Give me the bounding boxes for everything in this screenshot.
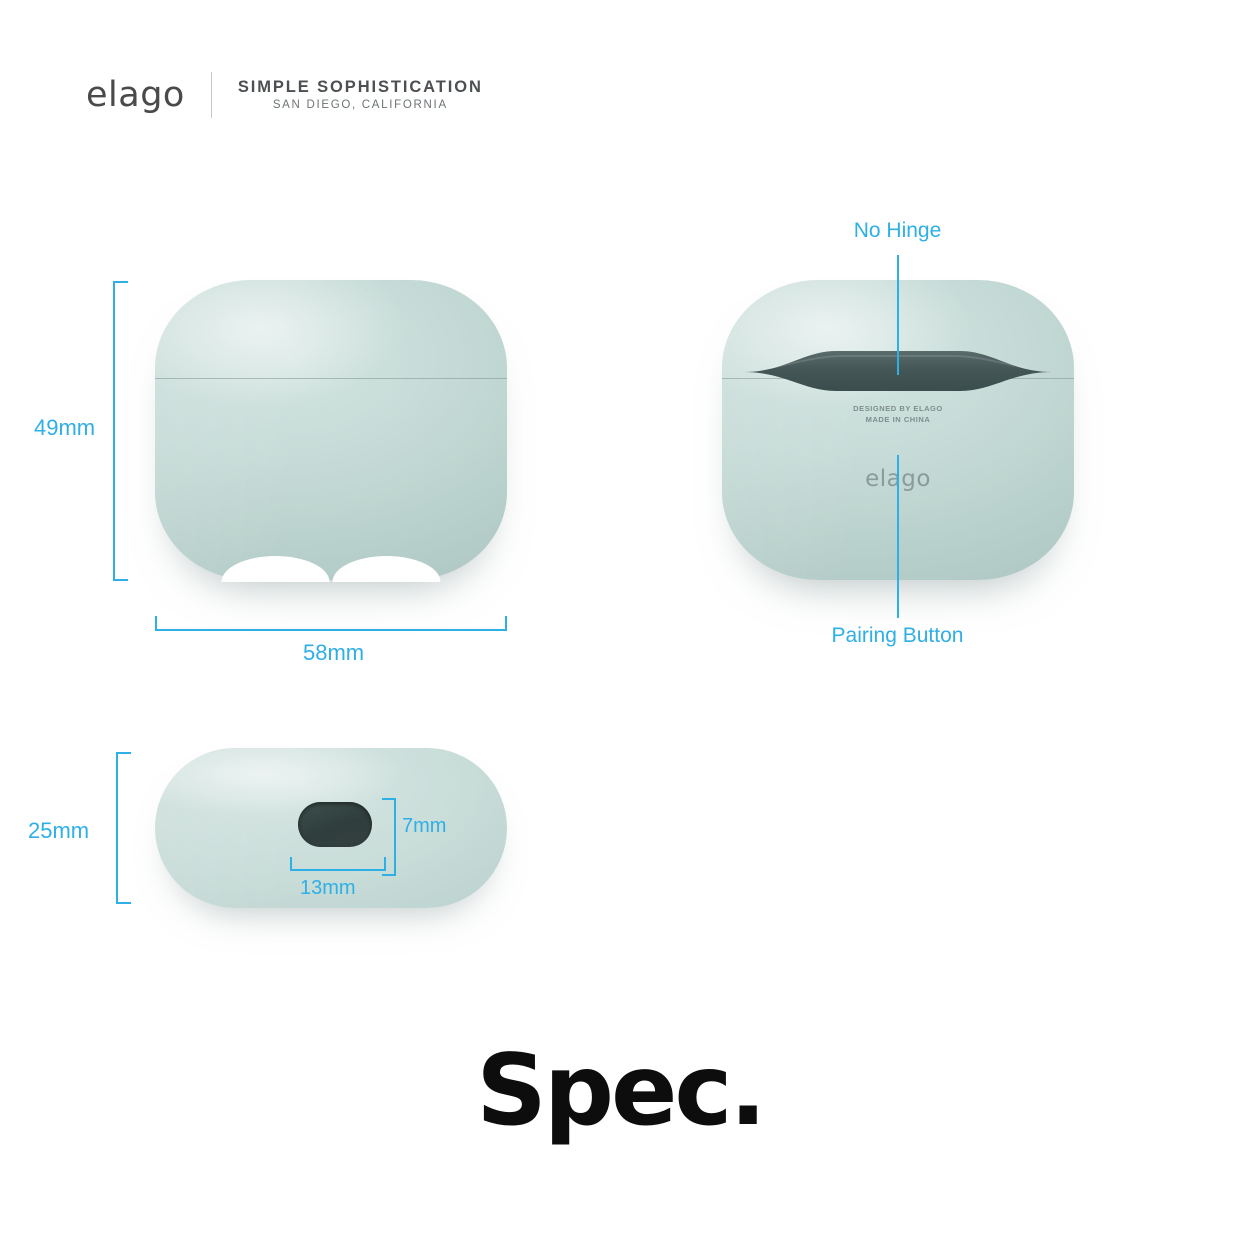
callout-text-no-hinge: No Hinge bbox=[854, 219, 942, 242]
brand-logo: elago bbox=[86, 78, 185, 113]
callout-label-pairing-button: Pairing Button bbox=[0, 624, 1240, 648]
tagline-primary: SIMPLE SOPHISTICATION bbox=[238, 79, 483, 96]
case-bottom-notches bbox=[224, 560, 439, 582]
dimension-label-height-bottom: 25mm bbox=[28, 818, 89, 844]
dimension-label-port-height: 7mm bbox=[402, 815, 446, 838]
charging-port-cutout bbox=[298, 802, 372, 847]
notch-right bbox=[333, 556, 441, 582]
callout-label-no-hinge: No Hinge bbox=[0, 219, 1240, 243]
header-divider bbox=[211, 72, 212, 118]
callout-text-pairing-button: Pairing Button bbox=[832, 624, 964, 647]
imprint-line-2: MADE IN CHINA bbox=[722, 415, 1074, 426]
dimension-label-height-front: 49mm bbox=[34, 415, 95, 441]
imprint-line-1: DESIGNED BY ELAGO bbox=[722, 404, 1074, 415]
page-header: elago SIMPLE SOPHISTICATION SAN DIEGO, C… bbox=[86, 72, 483, 118]
port-width-bracket bbox=[290, 856, 386, 872]
leader-line-pairing-button bbox=[897, 455, 899, 618]
leader-line-no-hinge bbox=[897, 255, 899, 375]
airpods-case-front-view bbox=[155, 280, 507, 580]
height-bracket-front bbox=[112, 281, 130, 581]
page-title-spec: Spec. bbox=[0, 1042, 1240, 1140]
case-imprint-text: DESIGNED BY ELAGO MADE IN CHINA bbox=[722, 404, 1074, 426]
tagline-secondary: SAN DIEGO, CALIFORNIA bbox=[273, 100, 448, 112]
header-tagline: SIMPLE SOPHISTICATION SAN DIEGO, CALIFOR… bbox=[238, 79, 483, 112]
case-seam-line bbox=[155, 378, 507, 379]
dimension-label-port-width: 13mm bbox=[300, 877, 356, 900]
height-bracket-bottom bbox=[115, 752, 133, 904]
notch-left bbox=[222, 556, 330, 582]
